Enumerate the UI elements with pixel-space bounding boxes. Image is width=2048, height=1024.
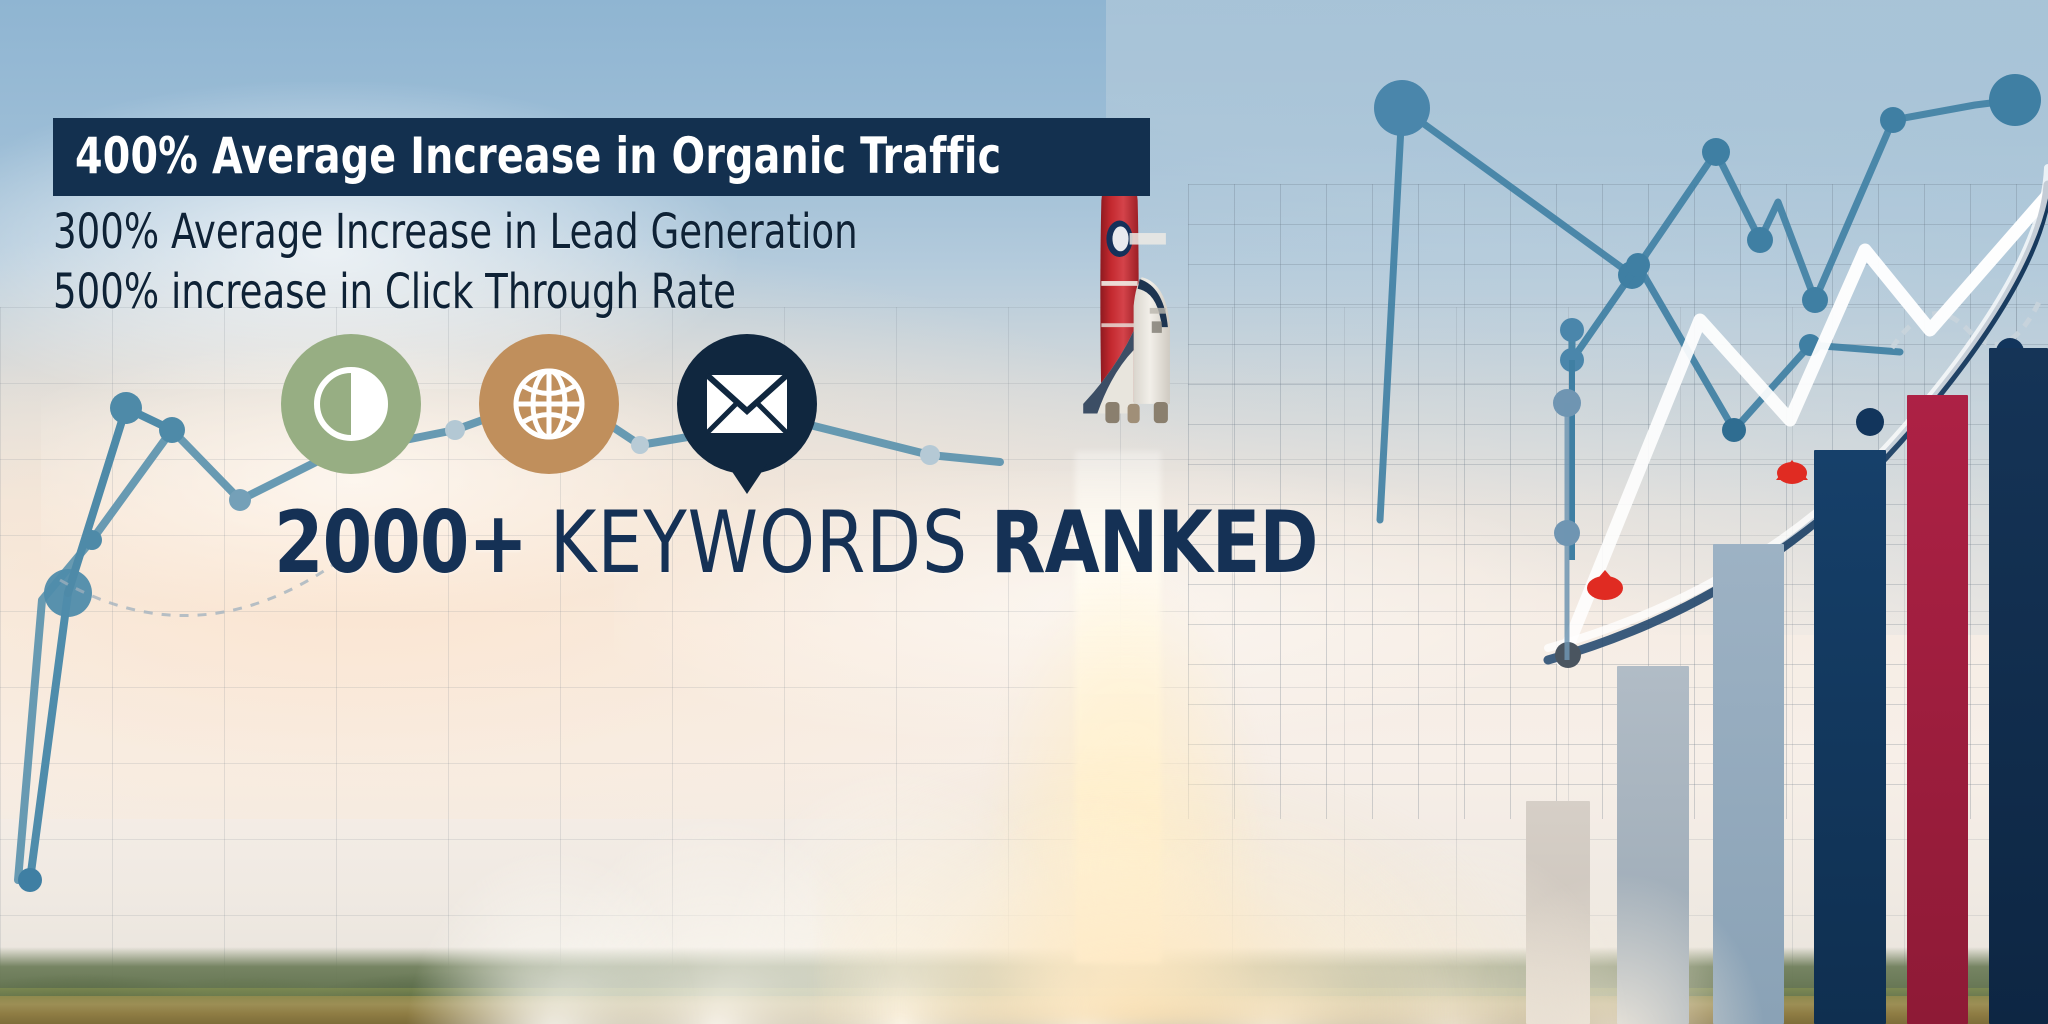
- headline-text-block: 400% Average Increase in Organic Traffic…: [53, 118, 1036, 320]
- rocket-launch: [1057, 162, 1188, 469]
- pin-tail: [727, 464, 767, 494]
- headline-band: 400% Average Increase in Organic Traffic: [53, 118, 1150, 196]
- contrast-icon: [308, 361, 394, 447]
- subline-click-through-rate: 500% increase in Click Through Rate: [53, 266, 898, 320]
- ranked-word: RANKED: [991, 493, 1318, 593]
- globe-icon: [506, 361, 592, 447]
- envelope-icon: [705, 373, 789, 435]
- keywords-ranked-headline: 2000+ KEYWORDS RANKED: [274, 500, 1318, 586]
- exhaust-smoke-warm-glow: [819, 758, 1515, 1024]
- keywords-word: KEYWORDS: [550, 493, 968, 593]
- subline-lead-generation: 300% Average Increase in Lead Generation: [53, 206, 898, 260]
- keywords-count: 2000+: [274, 493, 527, 593]
- envelope-icon-badge[interactable]: [677, 334, 817, 474]
- globe-icon-badge[interactable]: [479, 334, 619, 474]
- seo-results-banner: 400% Average Increase in Organic Traffic…: [0, 0, 2048, 1024]
- headline-primary: 400% Average Increase in Organic Traffic: [75, 127, 1001, 185]
- icon-row: [281, 334, 817, 474]
- contrast-icon-badge[interactable]: [281, 334, 421, 474]
